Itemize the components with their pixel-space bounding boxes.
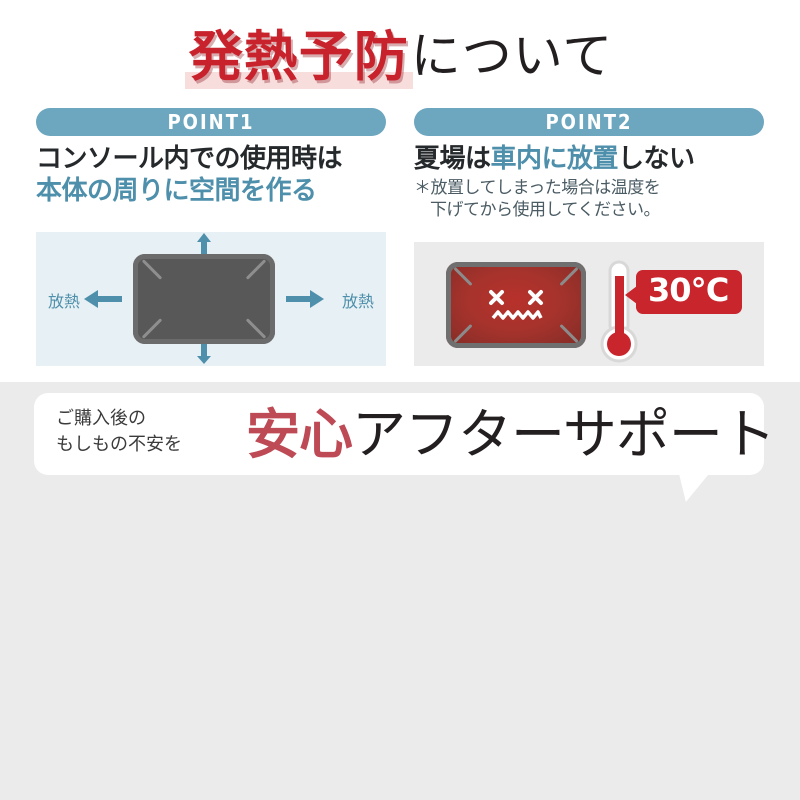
arrow-left-icon xyxy=(84,290,122,308)
overheated-device-illustration: 30℃ xyxy=(414,242,764,366)
point2-heading-part1: 夏場は xyxy=(414,144,491,174)
point2-badge: POINT2 xyxy=(414,108,764,136)
device-body-cool xyxy=(133,254,275,344)
page-title-rest: について xyxy=(411,16,614,88)
corner-mark-icon xyxy=(142,259,163,280)
support-banner: ご購入後の もしもの不安を 安心アフターサポート xyxy=(34,393,764,475)
device-sad-face-icon xyxy=(446,262,586,348)
point1-heading-line2: 本体の周りに空間を作る xyxy=(36,175,386,207)
corner-mark-icon xyxy=(246,318,267,339)
temperature-badge: 30℃ xyxy=(636,270,742,314)
point2-note-line2: 下げてから使用してください。 xyxy=(414,199,764,221)
support-banner-title: 安心アフターサポート xyxy=(246,400,775,469)
heat-dissipation-illustration: 放熱 放熱 xyxy=(36,232,386,366)
point2-heading-part3: しない xyxy=(618,144,695,174)
support-banner-main: アフターサポート xyxy=(352,403,775,466)
corner-mark-icon xyxy=(142,318,163,339)
arrow-down-icon xyxy=(197,344,211,364)
point1-badge: POINT1 xyxy=(36,108,386,136)
after-support-section: ご購入後の もしもの不安を 安心アフターサポート xyxy=(0,382,800,800)
point1-section: POINT1 コンソール内での使用時は 本体の周りに空間を作る xyxy=(36,108,386,207)
support-banner-subtext-line1: ご購入後の xyxy=(56,406,182,432)
support-banner-subtext-line2: もしもの不安を xyxy=(56,432,182,458)
point1-heading-line1: コンソール内での使用時は xyxy=(36,144,342,174)
arrow-right-icon xyxy=(286,290,324,308)
arrow-up-icon xyxy=(197,233,211,254)
point2-note-line1: ＊放置してしまった場合は温度を xyxy=(414,178,660,198)
point2-section: POINT2 夏場は車内に放置しない ＊放置してしまった場合は温度を 下げてから… xyxy=(414,108,764,221)
point2-heading-part2: 車内に放置 xyxy=(491,144,619,174)
point2-note: ＊放置してしまった場合は温度を 下げてから使用してください。 xyxy=(414,177,764,221)
corner-mark-icon xyxy=(246,259,267,280)
page-title: 発熱予防について xyxy=(0,12,800,91)
device-body-hot xyxy=(446,262,586,348)
support-banner-subtext: ご購入後の もしもの不安を xyxy=(56,406,182,457)
page-title-highlight: 発熱予防 xyxy=(187,12,411,91)
point2-heading: 夏場は車内に放置しない xyxy=(414,143,764,175)
support-banner-accent: 安心 xyxy=(246,403,352,466)
point1-heading: コンソール内での使用時は 本体の周りに空間を作る xyxy=(36,143,386,207)
speech-bubble-tail xyxy=(676,470,712,502)
infographic-page: 発熱予防について POINT1 コンソール内での使用時は 本体の周りに空間を作る… xyxy=(0,0,800,800)
